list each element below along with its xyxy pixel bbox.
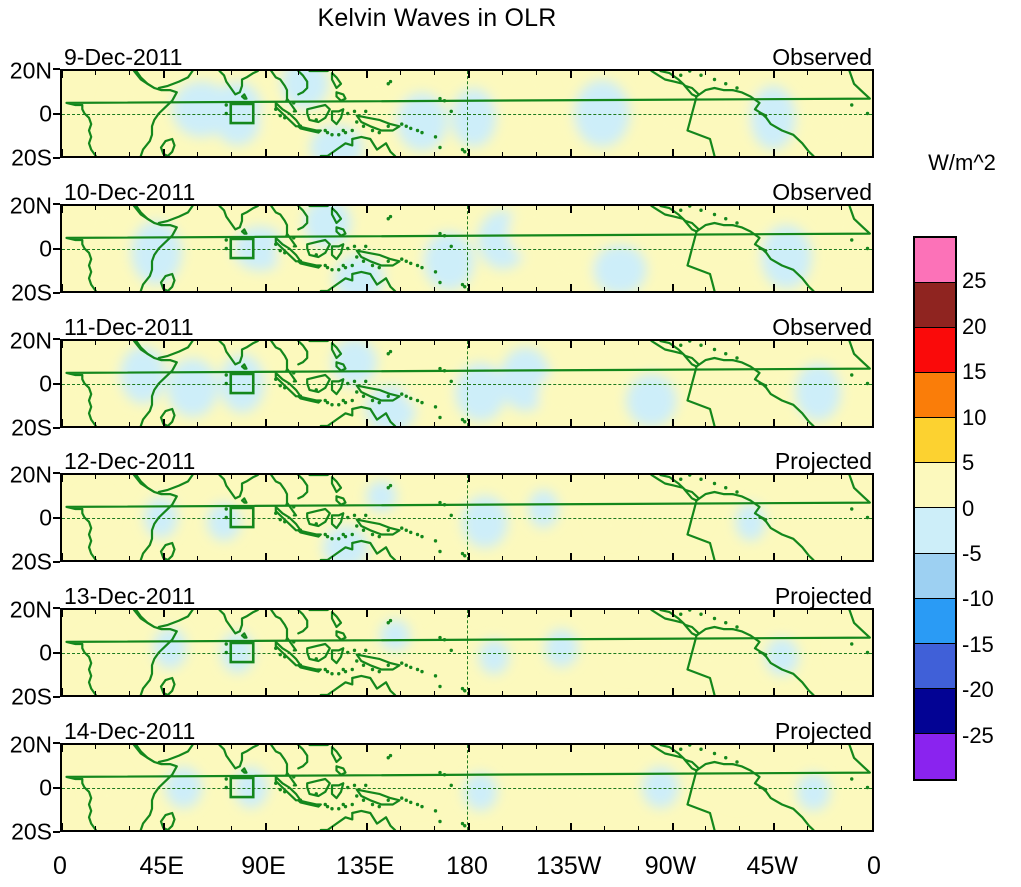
x-axis-minor-tick xyxy=(434,422,435,426)
x-axis-minor-tick xyxy=(502,422,503,426)
x-axis-minor-tick xyxy=(434,745,435,749)
panel-kind-label: Projected xyxy=(775,583,872,610)
x-axis-minor-tick xyxy=(434,691,435,695)
x-axis-major-tick xyxy=(773,149,775,156)
x-axis-major-tick xyxy=(366,206,368,213)
x-axis-major-tick xyxy=(61,71,63,78)
x-axis-minor-tick xyxy=(332,826,333,830)
map-panel: 20N020S9-Dec-2011Observed xyxy=(0,69,880,158)
x-axis-major-tick xyxy=(570,475,572,482)
map-panel: 20N020S13-Dec-2011Projected xyxy=(0,608,880,697)
y-axis-tick xyxy=(53,338,60,340)
x-axis-minor-tick xyxy=(332,422,333,426)
x-axis-minor-tick xyxy=(807,745,808,749)
x-axis-minor-tick xyxy=(298,341,299,345)
x-axis-major-tick xyxy=(672,475,674,482)
x-axis-minor-tick xyxy=(298,206,299,210)
x-axis-minor-tick xyxy=(95,610,96,614)
x-axis-major-tick xyxy=(265,149,267,156)
x-axis-tick-label: 45E xyxy=(140,852,184,881)
x-axis-minor-tick xyxy=(705,152,706,156)
x-axis-minor-tick xyxy=(604,610,605,614)
x-axis-major-tick xyxy=(61,206,63,213)
x-axis-minor-tick xyxy=(400,422,401,426)
panel-kind-label: Projected xyxy=(775,718,872,745)
y-axis-tick xyxy=(53,607,60,609)
x-axis-major-tick xyxy=(672,341,674,348)
colorbar-tick-label: 5 xyxy=(962,450,974,476)
x-axis-major-tick xyxy=(468,284,470,291)
x-axis-minor-tick xyxy=(231,206,232,210)
x-axis-minor-tick xyxy=(129,826,130,830)
y-axis-tick xyxy=(53,203,60,205)
x-axis-minor-tick xyxy=(231,341,232,345)
x-axis-minor-tick xyxy=(129,71,130,75)
x-axis-major-tick xyxy=(265,341,267,348)
x-axis-major-tick xyxy=(61,610,63,617)
x-axis-major-tick xyxy=(163,745,165,752)
x-axis-minor-tick xyxy=(298,610,299,614)
dateline-180 xyxy=(467,475,468,560)
x-axis-minor-tick xyxy=(502,152,503,156)
colorbar-band xyxy=(915,734,955,779)
x-axis-minor-tick xyxy=(807,691,808,695)
colorbar-tick-label: 0 xyxy=(962,496,974,522)
x-axis-minor-tick xyxy=(705,691,706,695)
x-axis-minor-tick xyxy=(434,556,435,560)
x-axis-minor-tick xyxy=(739,152,740,156)
y-axis-tick-label: 20S xyxy=(11,282,52,305)
x-axis-major-tick xyxy=(672,71,674,78)
map-canvas[interactable] xyxy=(60,204,874,293)
y-axis-tick-label: 0 xyxy=(39,102,52,125)
colorbar-band xyxy=(915,283,955,328)
x-axis-minor-tick xyxy=(739,341,740,345)
x-axis-minor-tick xyxy=(298,691,299,695)
x-axis-major-tick xyxy=(672,688,674,695)
x-axis-minor-tick xyxy=(807,71,808,75)
y-axis-tick-label: 20S xyxy=(11,417,52,440)
x-axis-minor-tick xyxy=(434,341,435,345)
x-axis-major-tick xyxy=(265,745,267,752)
map-panel: 20N020S12-Dec-2011Projected xyxy=(0,473,880,562)
x-axis-minor-tick xyxy=(95,341,96,345)
x-axis-major-tick xyxy=(468,610,470,617)
x-axis-minor-tick xyxy=(536,341,537,345)
x-axis-minor-tick xyxy=(332,475,333,479)
dateline-180 xyxy=(467,206,468,291)
x-axis-major-tick xyxy=(672,149,674,156)
x-axis-minor-tick xyxy=(705,287,706,291)
x-axis-minor-tick xyxy=(400,691,401,695)
x-axis-tick-label: 180 xyxy=(446,852,488,881)
x-axis-minor-tick xyxy=(231,152,232,156)
x-axis-minor-tick xyxy=(807,287,808,291)
x-axis-minor-tick xyxy=(638,745,639,749)
x-axis-major-tick xyxy=(163,475,165,482)
panel-header: 9-Dec-2011Observed xyxy=(60,43,874,69)
x-axis-minor-tick xyxy=(705,826,706,830)
x-axis-major-tick xyxy=(773,610,775,617)
x-axis-minor-tick xyxy=(536,422,537,426)
x-axis-minor-tick xyxy=(298,287,299,291)
colorbar-band xyxy=(915,689,955,734)
x-axis-minor-tick xyxy=(434,71,435,75)
panel-header: 14-Dec-2011Projected xyxy=(60,717,874,743)
map-canvas[interactable] xyxy=(60,743,874,832)
x-axis-major-tick xyxy=(672,823,674,830)
x-axis-minor-tick xyxy=(95,691,96,695)
x-axis-minor-tick xyxy=(739,826,740,830)
x-axis-minor-tick xyxy=(95,287,96,291)
y-axis-tick-label: 20S xyxy=(11,686,52,709)
y-axis-tick-label: 20N xyxy=(10,599,52,622)
x-axis-major-tick xyxy=(61,341,63,348)
x-axis-major-tick xyxy=(265,419,267,426)
x-axis-major-tick xyxy=(366,553,368,560)
x-axis-major-tick xyxy=(366,341,368,348)
x-axis-minor-tick xyxy=(231,610,232,614)
x-axis-minor-tick xyxy=(197,422,198,426)
x-axis-major-tick xyxy=(773,745,775,752)
x-axis-minor-tick xyxy=(604,556,605,560)
x-axis-major-tick xyxy=(163,419,165,426)
panel-kind-label: Observed xyxy=(772,44,872,71)
x-axis-minor-tick xyxy=(739,610,740,614)
x-axis-minor-tick xyxy=(502,556,503,560)
x-axis-major-tick xyxy=(366,419,368,426)
x-axis-major-tick xyxy=(672,745,674,752)
x-axis-minor-tick xyxy=(841,475,842,479)
panel-header: 12-Dec-2011Projected xyxy=(60,447,874,473)
x-axis-major-tick xyxy=(570,610,572,617)
x-axis-minor-tick xyxy=(332,206,333,210)
x-axis-minor-tick xyxy=(705,556,706,560)
x-axis-minor-tick xyxy=(95,206,96,210)
x-axis-major-tick xyxy=(468,688,470,695)
x-axis-minor-tick xyxy=(129,745,130,749)
y-axis-tick xyxy=(53,383,60,385)
x-axis-minor-tick xyxy=(95,422,96,426)
map-canvas[interactable] xyxy=(60,69,874,158)
x-axis-minor-tick xyxy=(298,475,299,479)
y-axis-tick xyxy=(53,787,60,789)
x-axis-minor-tick xyxy=(841,556,842,560)
colorbar-band xyxy=(915,328,955,373)
colorbar-band xyxy=(915,644,955,689)
y-axis-tick-label: 20N xyxy=(10,60,52,83)
x-axis-minor-tick xyxy=(95,745,96,749)
x-axis-minor-tick xyxy=(400,152,401,156)
y-axis-tick-label: 20N xyxy=(10,734,52,757)
y-axis-tick xyxy=(53,561,60,563)
x-axis-minor-tick xyxy=(298,556,299,560)
x-axis-minor-tick xyxy=(129,691,130,695)
x-axis-major-tick xyxy=(163,284,165,291)
x-axis-major-tick xyxy=(468,341,470,348)
panel-date-label: 12-Dec-2011 xyxy=(64,448,195,475)
x-axis-major-tick xyxy=(570,284,572,291)
x-axis-major-tick xyxy=(61,823,63,830)
x-axis-major-tick xyxy=(265,71,267,78)
x-axis-minor-tick xyxy=(502,691,503,695)
x-axis-major-tick xyxy=(163,206,165,213)
y-axis-labels: 20N020S xyxy=(0,204,56,293)
x-axis-minor-tick xyxy=(739,71,740,75)
x-axis-minor-tick xyxy=(95,71,96,75)
x-axis-tick-label: 135E xyxy=(336,852,394,881)
panel-header: 11-Dec-2011Observed xyxy=(60,313,874,339)
y-axis-tick xyxy=(53,517,60,519)
x-axis-major-tick xyxy=(366,823,368,830)
x-axis-major-tick xyxy=(61,149,63,156)
x-axis-minor-tick xyxy=(536,71,537,75)
x-axis-minor-tick xyxy=(298,71,299,75)
x-axis-minor-tick xyxy=(231,287,232,291)
x-axis-minor-tick xyxy=(705,71,706,75)
x-axis-minor-tick xyxy=(604,422,605,426)
x-axis-tick-label: 135W xyxy=(536,852,601,881)
x-axis-minor-tick xyxy=(298,826,299,830)
x-axis-major-tick xyxy=(570,553,572,560)
panel-header: 13-Dec-2011Projected xyxy=(60,582,874,608)
x-axis-major-tick xyxy=(468,823,470,830)
x-axis-minor-tick xyxy=(536,826,537,830)
y-axis-tick-label: 20S xyxy=(11,147,52,170)
x-axis-major-tick xyxy=(163,553,165,560)
colorbar-title: W/m^2 xyxy=(903,150,1021,176)
x-axis-major-tick xyxy=(570,71,572,78)
x-axis-major-tick xyxy=(265,553,267,560)
x-axis-tick-label: 0 xyxy=(867,852,881,881)
colorbar-band xyxy=(915,418,955,463)
colorbar-tick-label: -15 xyxy=(962,632,994,658)
x-axis-minor-tick xyxy=(536,556,537,560)
x-axis-minor-tick xyxy=(231,745,232,749)
map-canvas[interactable] xyxy=(60,473,874,562)
x-axis-minor-tick xyxy=(705,341,706,345)
x-axis-minor-tick xyxy=(332,691,333,695)
x-axis-major-tick xyxy=(773,419,775,426)
colorbar-band xyxy=(915,554,955,599)
x-axis-minor-tick xyxy=(231,691,232,695)
x-axis-minor-tick xyxy=(502,287,503,291)
x-axis-major-tick xyxy=(163,341,165,348)
x-axis-tick-label: 90W xyxy=(645,852,696,881)
x-axis-minor-tick xyxy=(638,610,639,614)
x-axis-major-tick xyxy=(61,475,63,482)
x-axis-major-tick xyxy=(163,71,165,78)
x-axis-minor-tick xyxy=(400,610,401,614)
x-axis-minor-tick xyxy=(536,206,537,210)
x-axis-minor-tick xyxy=(95,152,96,156)
x-axis-minor-tick xyxy=(739,475,740,479)
x-axis-minor-tick xyxy=(400,287,401,291)
x-axis-minor-tick xyxy=(434,152,435,156)
y-axis-tick-label: 20N xyxy=(10,330,52,353)
x-axis-minor-tick xyxy=(739,422,740,426)
x-axis-minor-tick xyxy=(129,287,130,291)
x-axis-major-tick xyxy=(366,284,368,291)
map-canvas[interactable] xyxy=(60,608,874,697)
x-axis-minor-tick xyxy=(502,71,503,75)
x-axis-minor-tick xyxy=(197,556,198,560)
x-axis-major-tick xyxy=(570,688,572,695)
x-axis-minor-tick xyxy=(129,152,130,156)
colorbar-band xyxy=(915,599,955,644)
x-axis-major-tick xyxy=(366,745,368,752)
y-axis-labels: 20N020S xyxy=(0,473,56,562)
x-axis-minor-tick xyxy=(536,475,537,479)
x-axis-minor-tick xyxy=(841,71,842,75)
x-axis-major-tick xyxy=(61,553,63,560)
x-axis-minor-tick xyxy=(638,206,639,210)
x-axis-tick-label: 90E xyxy=(241,852,285,881)
panel-date-label: 13-Dec-2011 xyxy=(64,583,195,610)
x-axis-minor-tick xyxy=(604,475,605,479)
y-axis-tick xyxy=(53,472,60,474)
colorbar-tick-label: 15 xyxy=(962,359,986,385)
panel-date-label: 9-Dec-2011 xyxy=(64,44,182,71)
x-axis-minor-tick xyxy=(197,206,198,210)
x-axis-major-tick xyxy=(773,206,775,213)
x-axis-minor-tick xyxy=(807,152,808,156)
colorbar-tick-label: -10 xyxy=(962,586,994,612)
x-axis-minor-tick xyxy=(604,206,605,210)
x-axis-minor-tick xyxy=(807,422,808,426)
x-axis-minor-tick xyxy=(841,152,842,156)
x-axis-minor-tick xyxy=(638,71,639,75)
x-axis-minor-tick xyxy=(807,826,808,830)
panel-kind-label: Observed xyxy=(772,314,872,341)
x-axis-minor-tick xyxy=(332,287,333,291)
x-axis-tick-label: 45W xyxy=(747,852,798,881)
x-axis-minor-tick xyxy=(638,475,639,479)
x-axis-minor-tick xyxy=(604,71,605,75)
x-axis-labels: 045E90E135E180135W90W45W0 xyxy=(60,852,874,882)
y-axis-tick-label: 20S xyxy=(11,821,52,844)
x-axis-major-tick xyxy=(570,419,572,426)
x-axis-minor-tick xyxy=(739,556,740,560)
x-axis-minor-tick xyxy=(841,691,842,695)
x-axis-major-tick xyxy=(570,745,572,752)
panel-kind-label: Observed xyxy=(772,179,872,206)
x-axis-minor-tick xyxy=(705,206,706,210)
x-axis-minor-tick xyxy=(502,745,503,749)
y-axis-labels: 20N020S xyxy=(0,743,56,832)
colorbar[interactable] xyxy=(913,236,957,781)
x-axis-minor-tick xyxy=(739,206,740,210)
x-axis-minor-tick xyxy=(129,610,130,614)
x-axis-minor-tick xyxy=(502,475,503,479)
y-axis-tick xyxy=(53,742,60,744)
x-axis-major-tick xyxy=(265,475,267,482)
x-axis-minor-tick xyxy=(841,826,842,830)
x-axis-minor-tick xyxy=(434,206,435,210)
x-axis-minor-tick xyxy=(332,341,333,345)
x-axis-minor-tick xyxy=(197,745,198,749)
x-axis-major-tick xyxy=(468,553,470,560)
x-axis-minor-tick xyxy=(129,206,130,210)
colorbar-tick-label: 10 xyxy=(962,405,986,431)
x-axis-major-tick xyxy=(672,284,674,291)
x-axis-major-tick xyxy=(570,149,572,156)
y-axis-tick-label: 0 xyxy=(39,237,52,260)
x-axis-minor-tick xyxy=(400,556,401,560)
y-axis-tick xyxy=(53,68,60,70)
x-axis-minor-tick xyxy=(638,287,639,291)
x-axis-major-tick xyxy=(468,745,470,752)
y-axis-tick xyxy=(53,157,60,159)
colorbar-tick-labels: 2520151050-5-10-15-20-25 xyxy=(962,236,1020,781)
x-axis-minor-tick xyxy=(841,287,842,291)
y-axis-labels: 20N020S xyxy=(0,608,56,697)
map-canvas[interactable] xyxy=(60,339,874,428)
x-axis-minor-tick xyxy=(502,610,503,614)
x-axis-minor-tick xyxy=(129,341,130,345)
colorbar-tick-label: -20 xyxy=(962,677,994,703)
colorbar-band xyxy=(915,238,955,283)
page-title: Kelvin Waves in OLR xyxy=(0,4,874,33)
x-axis-major-tick xyxy=(366,610,368,617)
x-axis-tick-label: 0 xyxy=(53,852,67,881)
x-axis-major-tick xyxy=(163,149,165,156)
x-axis-minor-tick xyxy=(332,71,333,75)
x-axis-minor-tick xyxy=(705,745,706,749)
y-axis-tick xyxy=(53,652,60,654)
x-axis-minor-tick xyxy=(197,475,198,479)
x-axis-minor-tick xyxy=(604,152,605,156)
x-axis-minor-tick xyxy=(129,475,130,479)
x-axis-minor-tick xyxy=(332,152,333,156)
x-axis-minor-tick xyxy=(95,556,96,560)
x-axis-minor-tick xyxy=(705,475,706,479)
colorbar-band xyxy=(915,463,955,508)
panel-kind-label: Projected xyxy=(775,448,872,475)
x-axis-minor-tick xyxy=(197,152,198,156)
x-axis-major-tick xyxy=(672,553,674,560)
x-axis-major-tick xyxy=(366,71,368,78)
x-axis-minor-tick xyxy=(400,475,401,479)
x-axis-minor-tick xyxy=(536,610,537,614)
colorbar-band xyxy=(915,508,955,553)
x-axis-minor-tick xyxy=(807,556,808,560)
y-axis-tick-label: 20N xyxy=(10,464,52,487)
x-axis-minor-tick xyxy=(841,206,842,210)
x-axis-major-tick xyxy=(468,71,470,78)
x-axis-major-tick xyxy=(468,475,470,482)
x-axis-major-tick xyxy=(366,688,368,695)
x-axis-minor-tick xyxy=(807,475,808,479)
x-axis-major-tick xyxy=(265,823,267,830)
x-axis-minor-tick xyxy=(129,556,130,560)
colorbar-tick-label: -25 xyxy=(962,723,994,749)
x-axis-major-tick xyxy=(163,688,165,695)
x-axis-major-tick xyxy=(366,475,368,482)
x-axis-major-tick xyxy=(265,610,267,617)
x-axis-minor-tick xyxy=(298,152,299,156)
x-axis-minor-tick xyxy=(841,610,842,614)
x-axis-minor-tick xyxy=(502,826,503,830)
panel-date-label: 10-Dec-2011 xyxy=(64,179,195,206)
panel-header: 10-Dec-2011Observed xyxy=(60,178,874,204)
x-axis-minor-tick xyxy=(604,826,605,830)
map-panel: 20N020S10-Dec-2011Observed xyxy=(0,204,880,293)
x-axis-minor-tick xyxy=(502,206,503,210)
x-axis-minor-tick xyxy=(841,341,842,345)
x-axis-minor-tick xyxy=(807,610,808,614)
x-axis-minor-tick xyxy=(604,691,605,695)
